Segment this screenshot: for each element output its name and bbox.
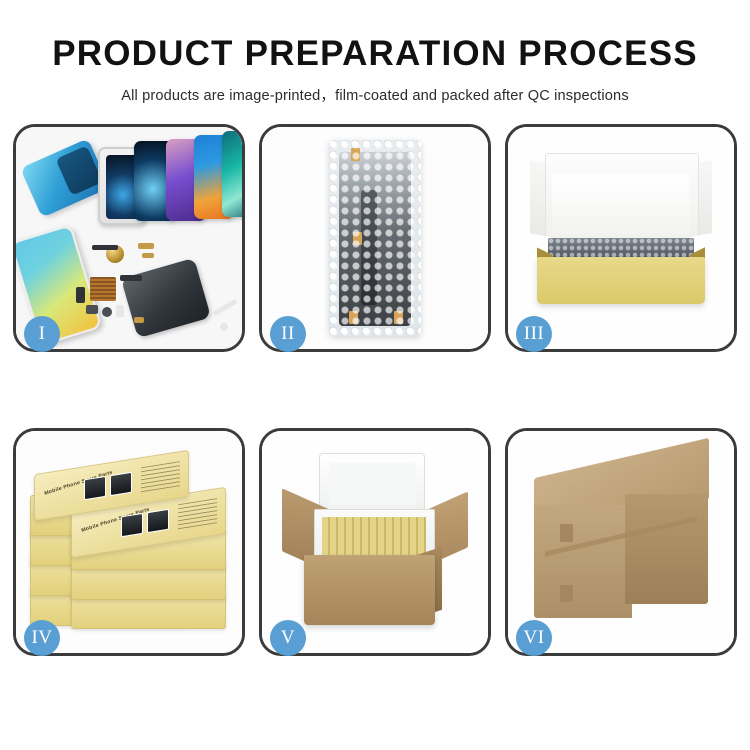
step-badge-3: III: [516, 316, 552, 352]
product-preparation-infographic: PRODUCT PREPARATION PROCESS All products…: [0, 0, 750, 750]
carton-tape-lower: [560, 585, 573, 601]
open-inner-box-photo: [508, 127, 734, 349]
part-bracket: [76, 287, 85, 303]
bubble-wrap-bag: [329, 140, 421, 336]
stacked-retail-boxes-photo: Mobile Phone Spare Parts Mobile Phone Sp…: [16, 431, 242, 653]
bubble-wrapped-screen-photo: [262, 127, 488, 349]
carton-front-face: [534, 505, 633, 618]
inner-box: [530, 153, 712, 311]
product-parts-photo: [16, 127, 242, 349]
outer-carton-open: [282, 453, 468, 629]
box-label-spec-lines-top: [140, 461, 180, 492]
step-1-image: [16, 127, 242, 349]
carton-tape-upper: [560, 524, 573, 542]
step-5-image: [262, 431, 488, 653]
bubble-sheen: [329, 140, 421, 336]
box-label-phone-image-1: [121, 513, 143, 538]
part-button: [102, 307, 112, 317]
process-step-card-6: VI: [505, 428, 737, 656]
part-flex-gold-2: [142, 253, 154, 258]
sealed-carton: [526, 451, 716, 633]
box-label-phone-image-3: [84, 475, 106, 500]
carton-right-face: [625, 494, 709, 603]
process-step-card-4: Mobile Phone Spare Parts Mobile Phone Sp…: [13, 428, 245, 656]
step-badge-2: II: [270, 316, 306, 352]
phone-screen-teal: [222, 131, 242, 217]
foam-container-lid: [319, 453, 425, 515]
process-step-card-3: III: [505, 124, 737, 352]
sealed-carton-photo: [508, 431, 734, 653]
step-badge-1: I: [24, 316, 60, 352]
box-label-phone-image-2: [147, 508, 169, 533]
screw-part: [220, 323, 228, 331]
box-front-panel: [537, 257, 704, 304]
retail-boxes-inside: [322, 517, 427, 558]
step-6-image: [508, 431, 734, 653]
part-sim-tray: [116, 305, 124, 317]
step-3-image: [508, 127, 734, 349]
process-step-card-1: I: [13, 124, 245, 352]
process-steps-grid: I II: [13, 124, 737, 656]
carton-front-panel: [304, 555, 434, 625]
part-flex-gold: [138, 243, 154, 249]
part-cable: [120, 275, 142, 281]
part-connector: [134, 317, 144, 323]
box-label-spec-lines-front: [178, 498, 218, 529]
screen-adhesive-film: [20, 138, 110, 217]
process-step-card-5: V: [259, 428, 491, 656]
step-4-image: Mobile Phone Spare Parts Mobile Phone Sp…: [16, 431, 242, 653]
step-badge-6: VI: [516, 620, 552, 656]
part-strip: [92, 245, 118, 250]
page-subtitle: All products are image-printed，film-coat…: [0, 84, 750, 105]
page-title: PRODUCT PREPARATION PROCESS: [0, 36, 750, 73]
process-step-card-2: II: [259, 124, 491, 352]
header: PRODUCT PREPARATION PROCESS All products…: [0, 0, 750, 105]
box-stack: Mobile Phone Spare Parts Mobile Phone Sp…: [30, 451, 226, 637]
loaded-carton-photo: [262, 431, 488, 653]
step-2-image: [262, 127, 488, 349]
connector-chip-array: [90, 277, 116, 301]
phone-back-cover: [121, 257, 211, 338]
box-label-phone-image-4: [110, 471, 132, 496]
step-badge-5: V: [270, 620, 306, 656]
tweezers-tool: [212, 299, 237, 316]
part-camera: [86, 305, 98, 314]
step-badge-4: IV: [24, 620, 60, 656]
foam-sheet: [552, 175, 690, 238]
